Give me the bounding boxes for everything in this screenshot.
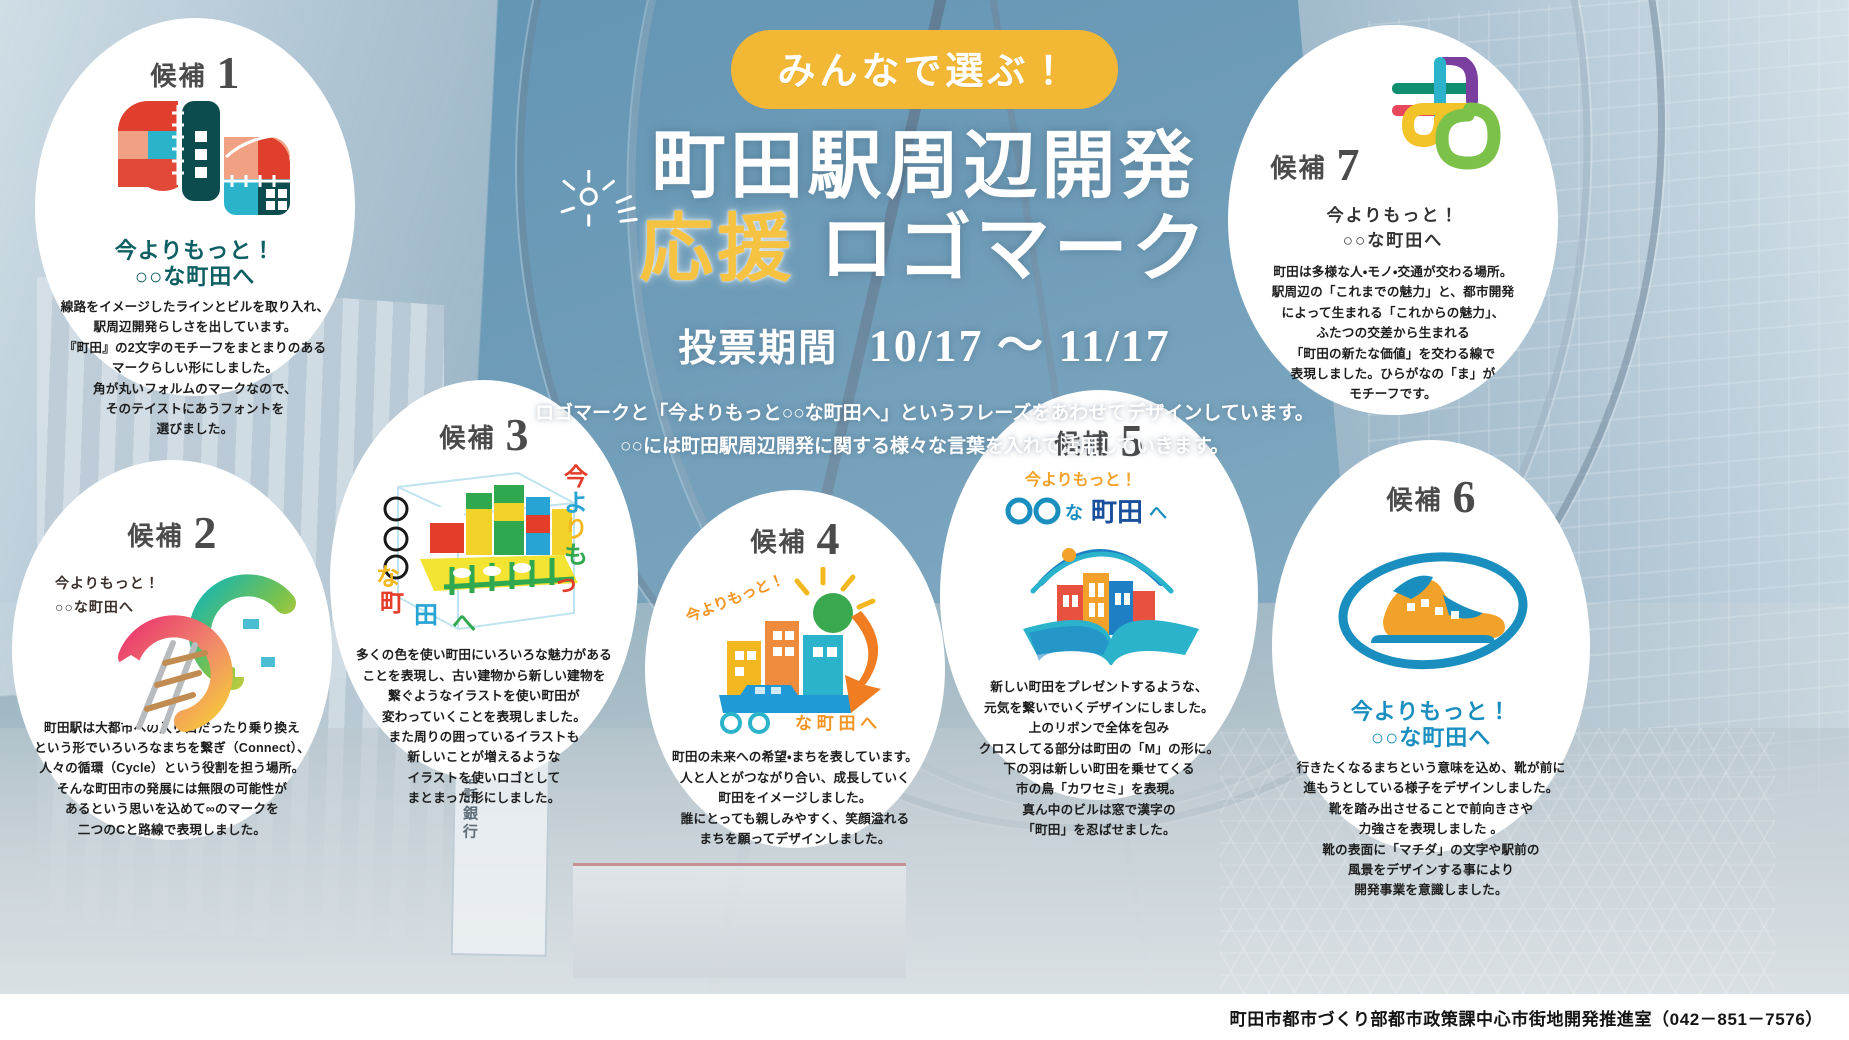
- lede-line-1: ロゴマークと「今よりもっと○○な町田へ」というフレーズをあわせてデザインしていま…: [0, 397, 1849, 430]
- svg-text:も: も: [564, 542, 588, 569]
- candidate-6-tagline-top: 今よりもっと！: [1351, 699, 1512, 724]
- candidate-4-number: 4: [817, 518, 840, 559]
- poster-root: 三井住友信託銀行 みんなで選ぶ！ 町田駅周辺開発 応援 ロゴマーク 投票期間 1…: [0, 0, 1849, 1040]
- candidate-4-description: 町田の未来への希望・まちを表しています。 人と人とがつながり合い、成長していく …: [672, 747, 918, 849]
- candidate-3-description: 多くの色を使い町田にいろいろな魅力がある ことを表現し、古い建物から新しい建物を…: [356, 645, 612, 808]
- lede-text: ロゴマークと「今よりもっと○○な町田へ」というフレーズをあわせてデザインしていま…: [0, 397, 1849, 464]
- page-title-rest: ロゴマーク: [820, 207, 1210, 290]
- candidate-2-heading: 候補 2: [127, 512, 216, 553]
- candidate-card-2[interactable]: 候補 2 今よりもっと！ ○○な町田へ: [12, 460, 332, 840]
- svg-text:町: 町: [380, 590, 404, 617]
- candidate-2-label: 候補: [127, 516, 183, 553]
- candidate-6-label: 候補: [1386, 480, 1442, 517]
- svg-text:な: な: [376, 564, 400, 591]
- candidate-5-description: 新しい町田をプレゼントするような、 元気を繋いでいくデザインにしました。 上のリ…: [979, 677, 1220, 840]
- footer: 町田市都市づくり部都市政策課中心市街地開発推進室（042－851－7576）: [0, 994, 1849, 1040]
- svg-text:り: り: [564, 516, 588, 543]
- svg-text:な 町 田 へ: な 町 田 へ: [795, 714, 877, 733]
- svg-text:今よりもっと！: 今よりもっと！: [683, 570, 787, 626]
- svg-text:今よりもっと！: 今よりもっと！: [1025, 470, 1137, 489]
- page-title-accent: 応援: [639, 207, 795, 290]
- page-title-line1: 町田駅周辺開発: [0, 125, 1849, 208]
- sparkle-icon: [560, 170, 646, 246]
- svg-text:今: 今: [564, 463, 588, 491]
- svg-text:へ: へ: [452, 610, 476, 635]
- logo-candidate-3-colorful-town: 今 よ り も っ 町 田 へ な: [368, 463, 600, 635]
- candidate-6-heading: 候補 6: [1386, 476, 1475, 517]
- candidate-6-tagline-bottom: ○○な町田へ: [1351, 725, 1512, 750]
- vote-period-label: 投票期間: [678, 328, 838, 370]
- candidate-6-tagline: 今よりもっと！ ○○な町田へ: [1351, 699, 1512, 750]
- candidate-6-number: 6: [1453, 476, 1476, 517]
- logo-candidate-6-shoe: [1323, 525, 1539, 691]
- logo-candidate-5-kingfisher-ribbon: 今よりもっと！ な 町田 へ: [983, 469, 1215, 665]
- candidate-card-6[interactable]: 候補 6 今よりもっと！ ○○な町田へ 行きたくなるまちという意味を込め、靴が前…: [1272, 440, 1590, 852]
- svg-text:田: 田: [414, 602, 438, 629]
- svg-text:っ: っ: [554, 570, 578, 597]
- poster-header: みんなで選ぶ！ 町田駅周辺開発 応援 ロゴマーク 投票期間 10/17 ～ 11…: [0, 0, 1849, 463]
- svg-text:な: な: [1065, 503, 1083, 523]
- background-storefront: [573, 863, 906, 977]
- vote-period-dates: 10/17 ～ 11/17: [869, 320, 1171, 371]
- ribbon-badge: みんなで選ぶ！: [731, 30, 1117, 109]
- candidate-card-4[interactable]: 候補 4 今よりもっと！: [645, 490, 945, 848]
- logo-candidate-4-buildings-arrow: 今よりもっと！: [683, 567, 907, 735]
- svg-text:町田: 町田: [1091, 497, 1143, 527]
- svg-text:へ: へ: [1149, 503, 1167, 523]
- svg-text:よ: よ: [564, 490, 588, 517]
- candidate-4-heading: 候補 4: [750, 518, 839, 559]
- candidate-4-label: 候補: [750, 522, 806, 559]
- page-title-line2: 応援 ロゴマーク: [0, 208, 1849, 291]
- candidate-2-number: 2: [194, 512, 217, 553]
- vote-period: 投票期間 10/17 ～ 11/17: [0, 309, 1849, 375]
- lede-line-2: ○○には町田駅周辺開発に関する様々な言葉を入れて活用していきます。: [0, 430, 1849, 463]
- footer-contact: 町田市都市づくり部都市政策課中心市街地開発推進室（042－851－7576）: [1230, 1005, 1823, 1030]
- logo-candidate-2-infinity: 今よりもっと！ ○○な町田へ: [47, 561, 297, 705]
- candidate-6-description: 行きたくなるまちという意味を込め、靴が前に 進もうとしている様子をデザインしまし…: [1297, 758, 1566, 901]
